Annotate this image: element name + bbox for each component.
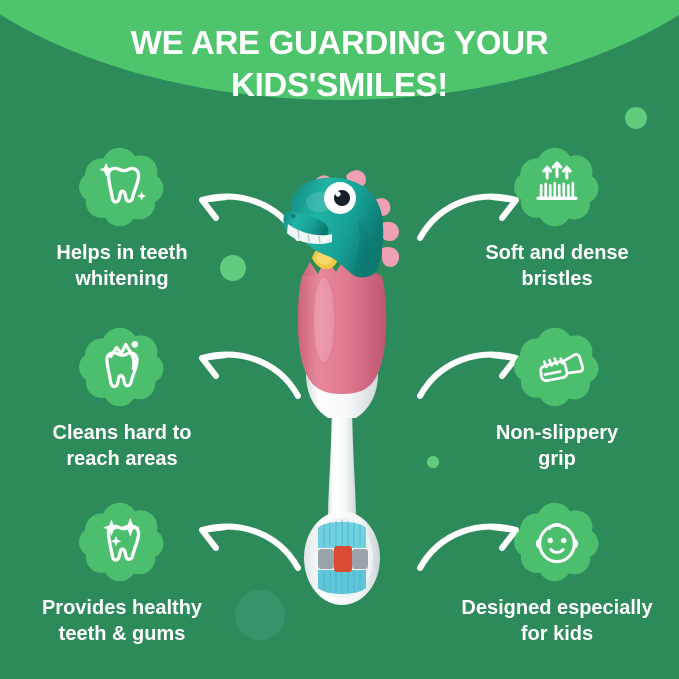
feature-label-line2: grip xyxy=(538,448,576,470)
tooth-sparkle-icon xyxy=(73,131,171,243)
feature-non-slippery-grip: Non-slippery grip xyxy=(437,322,677,472)
feature-cleans-hard-areas: Cleans hard to reach areas xyxy=(2,322,242,472)
infographic-canvas: WE ARE GUARDING YOUR KIDS'SMILES! xyxy=(0,0,679,679)
feature-label: Designed especially for kids xyxy=(442,595,672,647)
feature-label-line2: reach areas xyxy=(66,448,177,470)
tooth-brushing-icon xyxy=(73,311,171,423)
page-title: WE ARE GUARDING YOUR KIDS'SMILES! xyxy=(0,22,679,106)
feature-healthy-teeth-gums: Provides healthy teeth & gums xyxy=(2,497,242,647)
feature-label: Soft and dense bristles xyxy=(442,240,672,292)
feature-label-line2: bristles xyxy=(521,268,592,290)
feature-label-line1: Non-slippery xyxy=(496,422,618,444)
feature-label-line2: teeth & gums xyxy=(59,623,186,645)
feature-label-line1: Soft and dense xyxy=(485,242,628,264)
feature-badge xyxy=(73,322,171,412)
feature-label-line1: Cleans hard to xyxy=(53,422,192,444)
feature-designed-for-kids: Designed especially for kids xyxy=(437,497,677,647)
feature-label: Helps in teeth whitening xyxy=(7,240,237,292)
feature-badge xyxy=(73,497,171,587)
feature-soft-dense-bristles: Soft and dense bristles xyxy=(437,142,677,292)
grip-hand-icon xyxy=(508,311,606,423)
baby-face-icon xyxy=(508,486,606,598)
toothbrush-illustration xyxy=(262,150,422,610)
feature-label-line2: whitening xyxy=(75,268,168,290)
feature-label: Non-slippery grip xyxy=(442,420,672,472)
tooth-shine-icon xyxy=(73,486,171,598)
feature-label-line1: Helps in teeth xyxy=(56,242,187,264)
feature-badge xyxy=(508,322,606,412)
title-line-1: WE ARE GUARDING YOUR xyxy=(131,24,549,61)
feature-label: Cleans hard to reach areas xyxy=(7,420,237,472)
title-line-2: KIDS'SMILES! xyxy=(60,64,619,106)
feature-badge xyxy=(73,142,171,232)
feature-badge xyxy=(508,497,606,587)
feature-label-line1: Designed especially xyxy=(461,597,652,619)
feature-badge xyxy=(508,142,606,232)
product-image-dinosaur-toothbrush xyxy=(262,150,422,610)
feature-teeth-whitening: Helps in teeth whitening xyxy=(2,142,242,292)
feature-label-line2: for kids xyxy=(521,623,593,645)
feature-label: Provides healthy teeth & gums xyxy=(7,595,237,647)
dot-top-right xyxy=(625,107,647,129)
bristles-arrows-icon xyxy=(508,131,606,243)
feature-label-line1: Provides healthy xyxy=(42,597,202,619)
